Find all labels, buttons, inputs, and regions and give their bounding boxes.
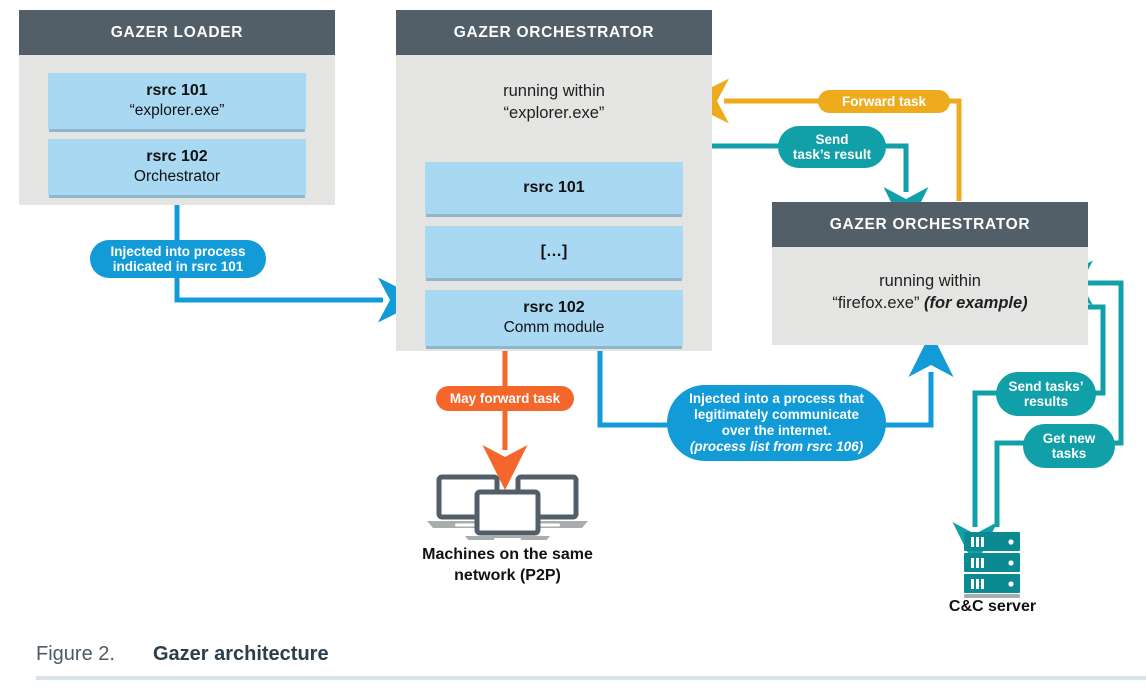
figure-number: Figure 2. bbox=[36, 643, 115, 666]
chip-loader-rsrc-101-title: rsrc 101 bbox=[146, 81, 207, 101]
callout-injected-network-process-line4: (process list from rsrc 106) bbox=[690, 439, 863, 455]
figure-rule bbox=[36, 676, 1146, 680]
callout-injected-network-process-line2: legitimately communicate bbox=[694, 407, 859, 423]
panel-gazer-orchestrator-main-title: GAZER ORCHESTRATOR bbox=[454, 24, 655, 42]
chip-main-ellipsis: […] bbox=[425, 226, 683, 278]
panel-gazer-orchestrator-secondary-title: GAZER ORCHESTRATOR bbox=[830, 216, 1031, 234]
callout-may-forward-task: May forward task bbox=[436, 386, 574, 411]
server-rack-icon bbox=[956, 528, 1028, 600]
callout-send-tasks-results-line2: results bbox=[1024, 394, 1068, 409]
panel-gazer-loader-title: GAZER LOADER bbox=[111, 24, 243, 42]
figure-title: Gazer architecture bbox=[153, 643, 329, 666]
panel-gazer-orchestrator-secondary-header: GAZER ORCHESTRATOR bbox=[772, 202, 1088, 247]
callout-send-task-result-line2: task’s result bbox=[793, 147, 871, 162]
orchestrator-main-running-line2: “explorer.exe” bbox=[396, 102, 712, 124]
orchestrator-secondary-process-name: “firefox.exe” bbox=[832, 294, 924, 312]
chip-loader-rsrc-101: rsrc 101 “explorer.exe” bbox=[48, 73, 306, 129]
callout-injected-into-process-line2: indicated in rsrc 101 bbox=[113, 259, 244, 274]
chip-main-rsrc-102-sub: Comm module bbox=[504, 318, 605, 338]
figure-caption: Figure 2. Gazer architecture bbox=[36, 638, 1122, 670]
node-machines-caption-line2: network (P2P) bbox=[400, 565, 615, 586]
chip-main-rsrc-101-title: rsrc 101 bbox=[523, 178, 584, 198]
chip-main-rsrc-102-title: rsrc 102 bbox=[523, 298, 584, 318]
node-machines-caption-line1: Machines on the same bbox=[400, 544, 615, 565]
diagram-canvas: GAZER LOADER rsrc 101 “explorer.exe” rsr… bbox=[0, 0, 1146, 697]
chip-main-rsrc-101: rsrc 101 bbox=[425, 162, 683, 214]
orchestrator-secondary-running-line2: “firefox.exe” (for example) bbox=[772, 292, 1088, 314]
chip-loader-rsrc-102-title: rsrc 102 bbox=[146, 147, 207, 167]
node-machines-caption: Machines on the same network (P2P) bbox=[400, 544, 615, 586]
node-machines bbox=[425, 465, 590, 540]
callout-send-tasks-results-line1: Send tasks’ bbox=[1008, 379, 1083, 394]
panel-gazer-loader-header: GAZER LOADER bbox=[19, 10, 335, 55]
callout-send-task-result: Send task’s result bbox=[778, 126, 886, 168]
callout-forward-task: Forward task bbox=[818, 90, 950, 113]
callout-send-task-result-line1: Send bbox=[815, 132, 848, 147]
callout-send-tasks-results: Send tasks’ results bbox=[996, 372, 1096, 416]
node-cc-server-caption-label: C&C server bbox=[920, 596, 1065, 617]
callout-forward-task-label: Forward task bbox=[842, 94, 926, 109]
chip-main-ellipsis-title: […] bbox=[541, 242, 568, 262]
laptops-icon bbox=[425, 465, 590, 540]
chip-loader-rsrc-101-sub: “explorer.exe” bbox=[130, 101, 225, 121]
callout-may-forward-task-label: May forward task bbox=[450, 391, 560, 406]
node-cc-server bbox=[956, 528, 1028, 600]
callout-injected-into-process-line1: Injected into process bbox=[110, 244, 245, 259]
orchestrator-secondary-running-label: running within “firefox.exe” (for exampl… bbox=[772, 270, 1088, 314]
panel-gazer-orchestrator-main: GAZER ORCHESTRATOR running within “explo… bbox=[396, 10, 712, 351]
orchestrator-main-running-label: running within “explorer.exe” bbox=[396, 80, 712, 124]
callout-get-new-tasks-line2: tasks bbox=[1052, 446, 1087, 461]
callout-injected-network-process-line1: Injected into a process that bbox=[689, 391, 864, 407]
orchestrator-main-running-line1: running within bbox=[396, 80, 712, 102]
callout-injected-network-process-line3: over the internet. bbox=[722, 423, 832, 439]
orchestrator-secondary-process-note: (for example) bbox=[924, 294, 1028, 312]
callout-injected-into-process: Injected into process indicated in rsrc … bbox=[90, 240, 266, 278]
panel-gazer-orchestrator-main-header: GAZER ORCHESTRATOR bbox=[396, 10, 712, 55]
chip-loader-rsrc-102-sub: Orchestrator bbox=[134, 167, 220, 187]
callout-get-new-tasks: Get new tasks bbox=[1023, 424, 1115, 468]
callout-injected-network-process: Injected into a process that legitimatel… bbox=[667, 385, 886, 461]
panel-gazer-loader: GAZER LOADER rsrc 101 “explorer.exe” rsr… bbox=[19, 10, 335, 205]
chip-main-rsrc-102: rsrc 102 Comm module bbox=[425, 290, 683, 346]
orchestrator-secondary-running-line1: running within bbox=[772, 270, 1088, 292]
panel-gazer-orchestrator-secondary: GAZER ORCHESTRATOR running within “firef… bbox=[772, 202, 1088, 345]
callout-get-new-tasks-line1: Get new bbox=[1043, 431, 1096, 446]
node-cc-server-caption: C&C server bbox=[920, 596, 1065, 617]
chip-loader-rsrc-102: rsrc 102 Orchestrator bbox=[48, 139, 306, 195]
